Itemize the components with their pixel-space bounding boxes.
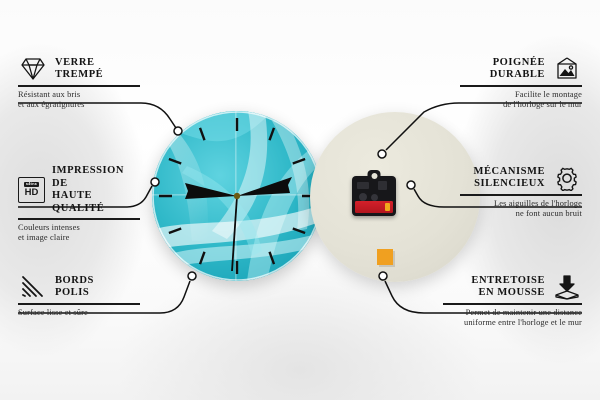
feature-desc-line1: Les aiguilles de l'horloge: [460, 199, 582, 210]
feature-divider: [18, 85, 140, 87]
feature-desc-line2: de l'horloge sur le mur: [460, 100, 582, 111]
feature-title-line2: HAUTE QUALITÉ: [52, 190, 140, 215]
feature-header: ultra HD IMPRESSION DE HAUTE QUALITÉ: [18, 165, 140, 215]
feature-divider: [18, 218, 140, 220]
feature-title-line2: TREMPÉ: [55, 69, 103, 82]
feature-title-line2: EN MOUSSE: [471, 287, 545, 300]
feature-title-line1: MÉCANISME: [474, 166, 545, 179]
feature-desc-line1: Résistant aux bris: [18, 90, 138, 101]
infographic-canvas: VERRE TREMPÉ Résistant aux bris et aux é…: [0, 0, 600, 400]
feature-header: ENTRETOISE EN MOUSSE: [443, 274, 582, 300]
feature-desc-line1: Permet de maintenir une distance: [443, 308, 582, 319]
feature-title-line1: ENTRETOISE: [471, 275, 545, 288]
feature-divider: [460, 85, 582, 87]
feature-poignee-durable: POIGNÉE DURABLE Facilite le montage de l…: [460, 56, 582, 111]
feature-desc-line1: Surface lisse et sûre: [18, 308, 140, 319]
feature-header: MÉCANISME SILENCIEUX: [460, 165, 582, 191]
feature-impression-haute-qualite: ultra HD IMPRESSION DE HAUTE QUALITÉ Cou…: [18, 165, 140, 244]
ultra-hd-icon-main: HD: [25, 188, 39, 198]
gear-icon: [552, 165, 582, 191]
feature-header: VERRE TREMPÉ: [18, 56, 138, 82]
feature-title-line1: POIGNÉE: [490, 57, 545, 70]
connector-dot-impression: [151, 178, 159, 186]
feature-header: BORDS POLIS: [18, 274, 140, 300]
feature-divider: [18, 303, 140, 305]
feature-entretoise-en-mousse: ENTRETOISE EN MOUSSE Permet de maintenir…: [443, 274, 582, 329]
feature-header: POIGNÉE DURABLE: [460, 56, 582, 82]
feature-desc-line2: uniforme entre l'horloge et le mur: [443, 318, 582, 329]
feature-title-line2: POLIS: [55, 287, 94, 300]
feature-title-line2: SILENCIEUX: [474, 178, 545, 191]
connector-dot-poignee: [378, 150, 386, 158]
diamond-icon: [18, 56, 48, 82]
feature-verre-trempe: VERRE TREMPÉ Résistant aux bris et aux é…: [18, 56, 138, 111]
feature-title-line2: DURABLE: [490, 69, 545, 82]
connector-dot-verre-trempe: [174, 127, 182, 135]
polished-edge-icon: [18, 274, 48, 300]
foam-spacer-icon: [552, 274, 582, 300]
wall-hanger-icon: [552, 56, 582, 82]
connector-dot-entretoise: [379, 272, 387, 280]
feature-mecanisme-silencieux: MÉCANISME SILENCIEUX Les aiguilles de l'…: [460, 165, 582, 220]
feature-desc-line1: Couleurs intenses: [18, 223, 140, 234]
feature-desc-line1: Facilite le montage: [460, 90, 582, 101]
connector-dot-mecanisme: [407, 181, 415, 189]
feature-desc-line2: ne font aucun bruit: [460, 209, 582, 220]
feature-desc-line2: et image claire: [18, 233, 140, 244]
feature-divider: [460, 194, 582, 196]
connector-dot-bords-polis: [188, 272, 196, 280]
feature-desc-line2: et aux égratignures: [18, 100, 138, 111]
ultra-hd-icon: ultra HD: [18, 177, 45, 203]
feature-title-line1: IMPRESSION DE: [52, 165, 140, 190]
feature-title-line1: VERRE: [55, 57, 103, 70]
feature-divider: [443, 303, 582, 305]
feature-title-line1: BORDS: [55, 275, 94, 288]
feature-bords-polis: BORDS POLIS Surface lisse et sûre: [18, 274, 140, 318]
